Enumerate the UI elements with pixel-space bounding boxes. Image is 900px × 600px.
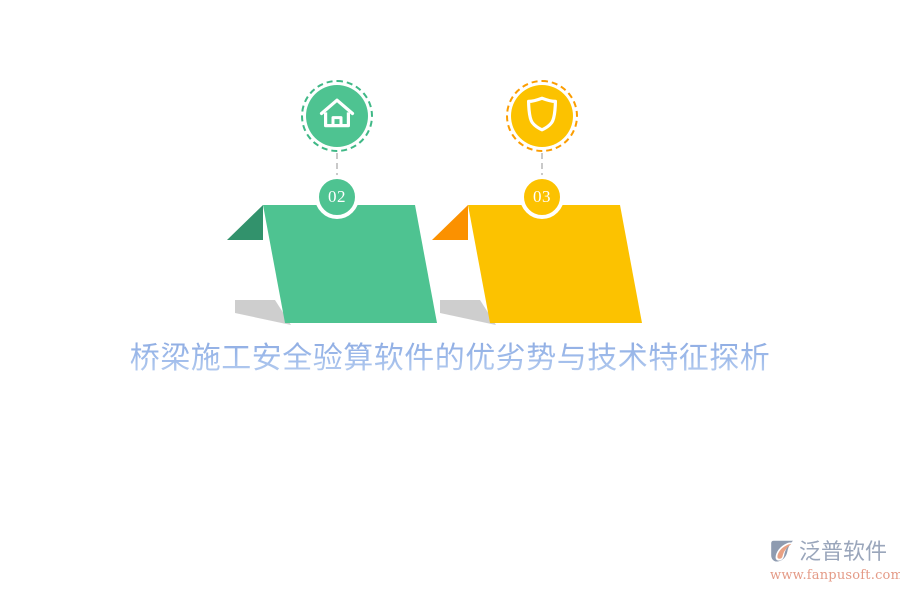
step-03-fold bbox=[432, 205, 468, 240]
step-03-body bbox=[468, 205, 642, 323]
step-03-number-label: 03 bbox=[533, 187, 551, 207]
step-02-fold bbox=[227, 205, 263, 240]
step-02-number-label: 02 bbox=[328, 187, 346, 207]
fanpu-logo-icon bbox=[768, 537, 796, 570]
shield-icon bbox=[525, 95, 559, 138]
slide-canvas: 02 03 桥梁施工安全验算软件的优劣势与技术特征探析 bbox=[0, 0, 900, 600]
brand-name: 泛普软件 bbox=[799, 542, 887, 564]
step-02-body bbox=[263, 205, 437, 323]
home-icon bbox=[319, 97, 355, 135]
infographic-step-03[interactable]: 03 bbox=[430, 85, 645, 325]
page-title: 桥梁施工安全验算软件的优劣势与技术特征探析 bbox=[0, 336, 900, 382]
step-03-number-bubble[interactable]: 03 bbox=[520, 175, 564, 219]
infographic-step-02[interactable]: 02 bbox=[225, 85, 440, 325]
step-03-icon-badge[interactable] bbox=[511, 85, 573, 147]
step-02-icon-badge[interactable] bbox=[306, 85, 368, 147]
step-02-number-bubble[interactable]: 02 bbox=[315, 175, 359, 219]
brand-watermark: 泛普软件 www.fanpusoft.com bbox=[768, 538, 892, 590]
brand-row: 泛普软件 bbox=[768, 538, 887, 568]
brand-url: www.fanpusoft.com bbox=[770, 568, 900, 583]
